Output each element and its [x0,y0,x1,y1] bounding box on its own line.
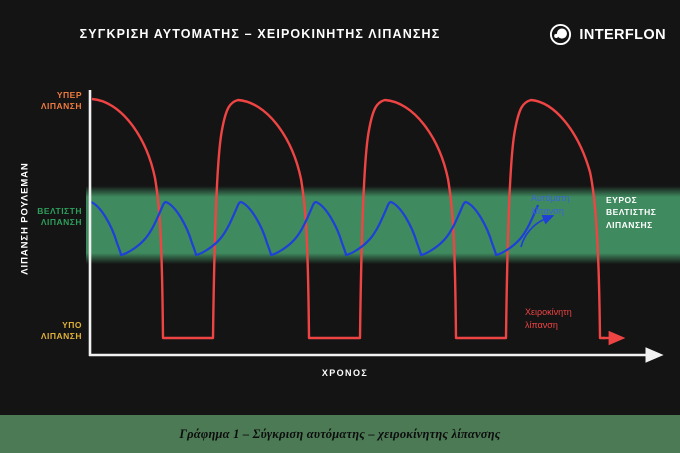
caption-bar: Γράφημα 1 – Σύγκριση αυτόματης – χειροκί… [0,415,680,453]
under-lubrication-label-line2: ΛΙΠΑΝΣΗ [0,331,82,342]
automatic-lubrication-label-line1: Αυτόματη [531,192,569,205]
x-axis-title: ΧΡΟΝΟΣ [285,368,405,378]
optimal-lubrication-label-line1: ΒΕΛΤΙΣΤΗ [0,206,82,217]
optimal-range-label: ΕΥΡΟΣ ΒΕΛΤΙΣΤΗΣ ΛΙΠΑΝΣΗΣ [606,194,656,231]
manual-lubrication-label: Χειροκίνητη λίπανση [525,306,572,331]
manual-lubrication-label-line2: λίπανση [525,319,572,332]
manual-lubrication-label-line1: Χειροκίνητη [525,306,572,319]
optimal-range-label-line1: ΕΥΡΟΣ [606,194,656,206]
infographic-root: ΣΥΓΚΡΙΣΗ ΑΥΤΟΜΑΤΗΣ – ΧΕΙΡΟΚΙΝΗΤΗΣ ΛΙΠΑΝΣ… [0,0,680,453]
chart-svg [0,0,680,410]
automatic-lubrication-label: Αυτόματη λίπανση [531,192,569,217]
automatic-lubrication-label-line2: λίπανση [531,205,569,218]
over-lubrication-label-line1: ΥΠΕΡ [0,90,82,101]
optimal-range-band [86,186,680,264]
chart-area: ΛΙΠΑΝΣΗ ΡΟΥΛΕΜΑΝ ΧΡΟΝΟΣ ΥΠΕΡ ΛΙΠΑΝΣΗ ΒΕΛ… [0,0,680,410]
under-lubrication-label-line1: ΥΠΟ [0,320,82,331]
optimal-lubrication-label: ΒΕΛΤΙΣΤΗ ΛΙΠΑΝΣΗ [0,206,82,228]
under-lubrication-label: ΥΠΟ ΛΙΠΑΝΣΗ [0,320,82,342]
optimal-range-label-line2: ΒΕΛΤΙΣΤΗΣ [606,206,656,218]
over-lubrication-label: ΥΠΕΡ ΛΙΠΑΝΣΗ [0,90,82,112]
over-lubrication-label-line2: ΛΙΠΑΝΣΗ [0,101,82,112]
caption-text: Γράφημα 1 – Σύγκριση αυτόματης – χειροκί… [179,427,500,442]
optimal-lubrication-label-line2: ΛΙΠΑΝΣΗ [0,217,82,228]
optimal-range-label-line3: ΛΙΠΑΝΣΗΣ [606,219,656,231]
